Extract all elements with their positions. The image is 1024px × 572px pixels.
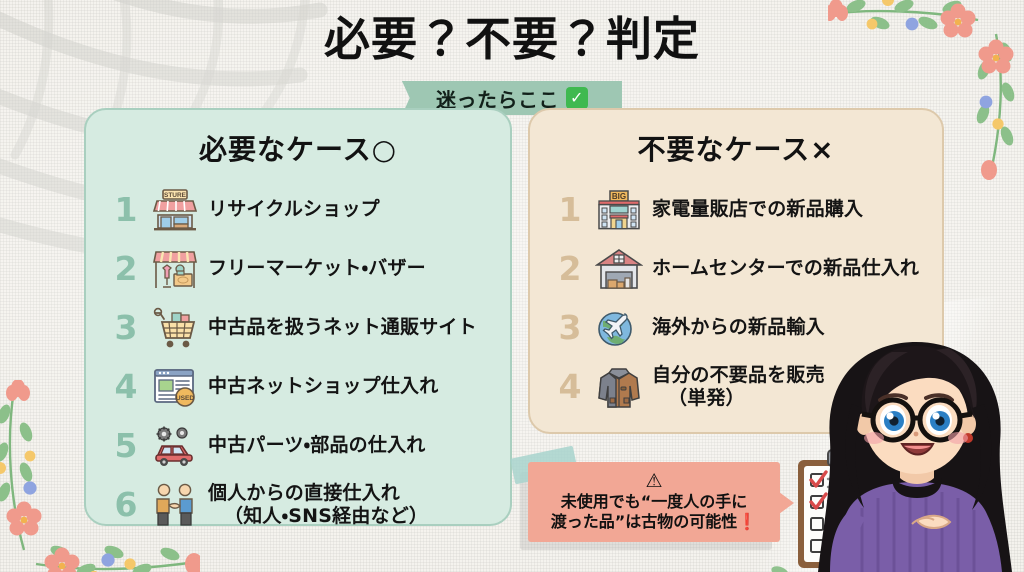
list-item[interactable]: 4 USED 中古ネットショップ仕入れ [86, 357, 510, 416]
warning-line-1: 未使用でも“一度人の手に [561, 492, 748, 512]
item-number: 3 [104, 311, 148, 344]
item-number: 1 [104, 193, 148, 226]
item-number: 4 [104, 370, 148, 403]
item-sublabel: （知人・SNS経由など） [208, 505, 428, 527]
car-parts-icon [148, 423, 202, 469]
item-number: 1 [548, 193, 592, 226]
list-item[interactable]: 3 中古品を扱うネット通販サイト [86, 298, 510, 357]
item-label: 中古ネットショップ仕入れ [202, 375, 438, 397]
item-label: 自分の不要品を販売 （単発） [646, 364, 825, 408]
item-number: 4 [548, 370, 592, 403]
svg-text:USED: USED [176, 395, 195, 402]
avatar-character [800, 332, 1024, 572]
globe-airplane-icon [592, 305, 646, 351]
item-label: 中古パーツ・部品の仕入れ [202, 434, 425, 456]
item-label: 家電量販店での新品購入 [646, 198, 863, 220]
required-case-list: 1 STURE リサイクルショップ [86, 180, 510, 534]
shopping-cart-icon [148, 305, 202, 351]
jacket-icon [592, 364, 646, 410]
warning-line-2: 渡った品”は古物の可能性❗ [551, 512, 757, 532]
svg-text:BIG: BIG [612, 192, 626, 201]
list-item[interactable]: 2 ホームセンターでの新品仕入れ [530, 239, 942, 298]
handshake-icon [148, 482, 202, 528]
item-sublabel: （単発） [652, 387, 825, 409]
list-item[interactable]: 2 フリーマーケット・バザー [86, 239, 510, 298]
item-label: 中古品を扱うネット通販サイト [202, 316, 477, 338]
big-electronics-store-icon: BIG [592, 187, 646, 233]
used-webpage-icon: USED [148, 364, 202, 410]
exclamation-icon: ❗ [737, 512, 757, 531]
item-label: リサイクルショップ [202, 198, 380, 220]
item-number: 2 [548, 252, 592, 285]
list-item[interactable]: 1 STURE リサイクルショップ [86, 180, 510, 239]
item-label: 海外からの新品輸入 [646, 316, 825, 338]
svg-text:STURE: STURE [164, 192, 187, 199]
item-number: 5 [104, 429, 148, 462]
item-label: 個人からの直接仕入れ （知人・SNS経由など） [202, 482, 428, 526]
item-number: 3 [548, 311, 592, 344]
warning-icon: ⚠ [645, 472, 662, 491]
check-icon: ✓ [566, 87, 588, 109]
home-center-warehouse-icon [592, 246, 646, 292]
item-label: ホームセンターでの新品仕入れ [646, 257, 919, 279]
list-item[interactable]: 6 個人からの直接仕入れ （知人・SNS経由など） [86, 475, 510, 534]
panel-heading-not-required: 不要なケース× [530, 128, 942, 168]
list-item[interactable]: 1 BIG [530, 180, 942, 239]
item-number: 2 [104, 252, 148, 285]
panel-required-cases: 必要なケース○ 1 STURE [84, 108, 512, 526]
warning-note: ⚠ 未使用でも“一度人の手に 渡った品”は古物の可能性❗ [528, 462, 780, 542]
infographic-canvas: 必要？不要？判定 迷ったらここ ✓ 必要なケース○ 1 STURE [0, 0, 1024, 572]
item-label: フリーマーケット・バザー [202, 257, 426, 279]
flea-market-stall-icon [148, 246, 202, 292]
list-item[interactable]: 5 [86, 416, 510, 475]
item-number: 6 [104, 488, 148, 521]
recycle-shop-icon: STURE [148, 187, 202, 233]
page-title: 必要？不要？判定 [0, 16, 1024, 62]
panel-heading-required: 必要なケース○ [86, 128, 510, 168]
